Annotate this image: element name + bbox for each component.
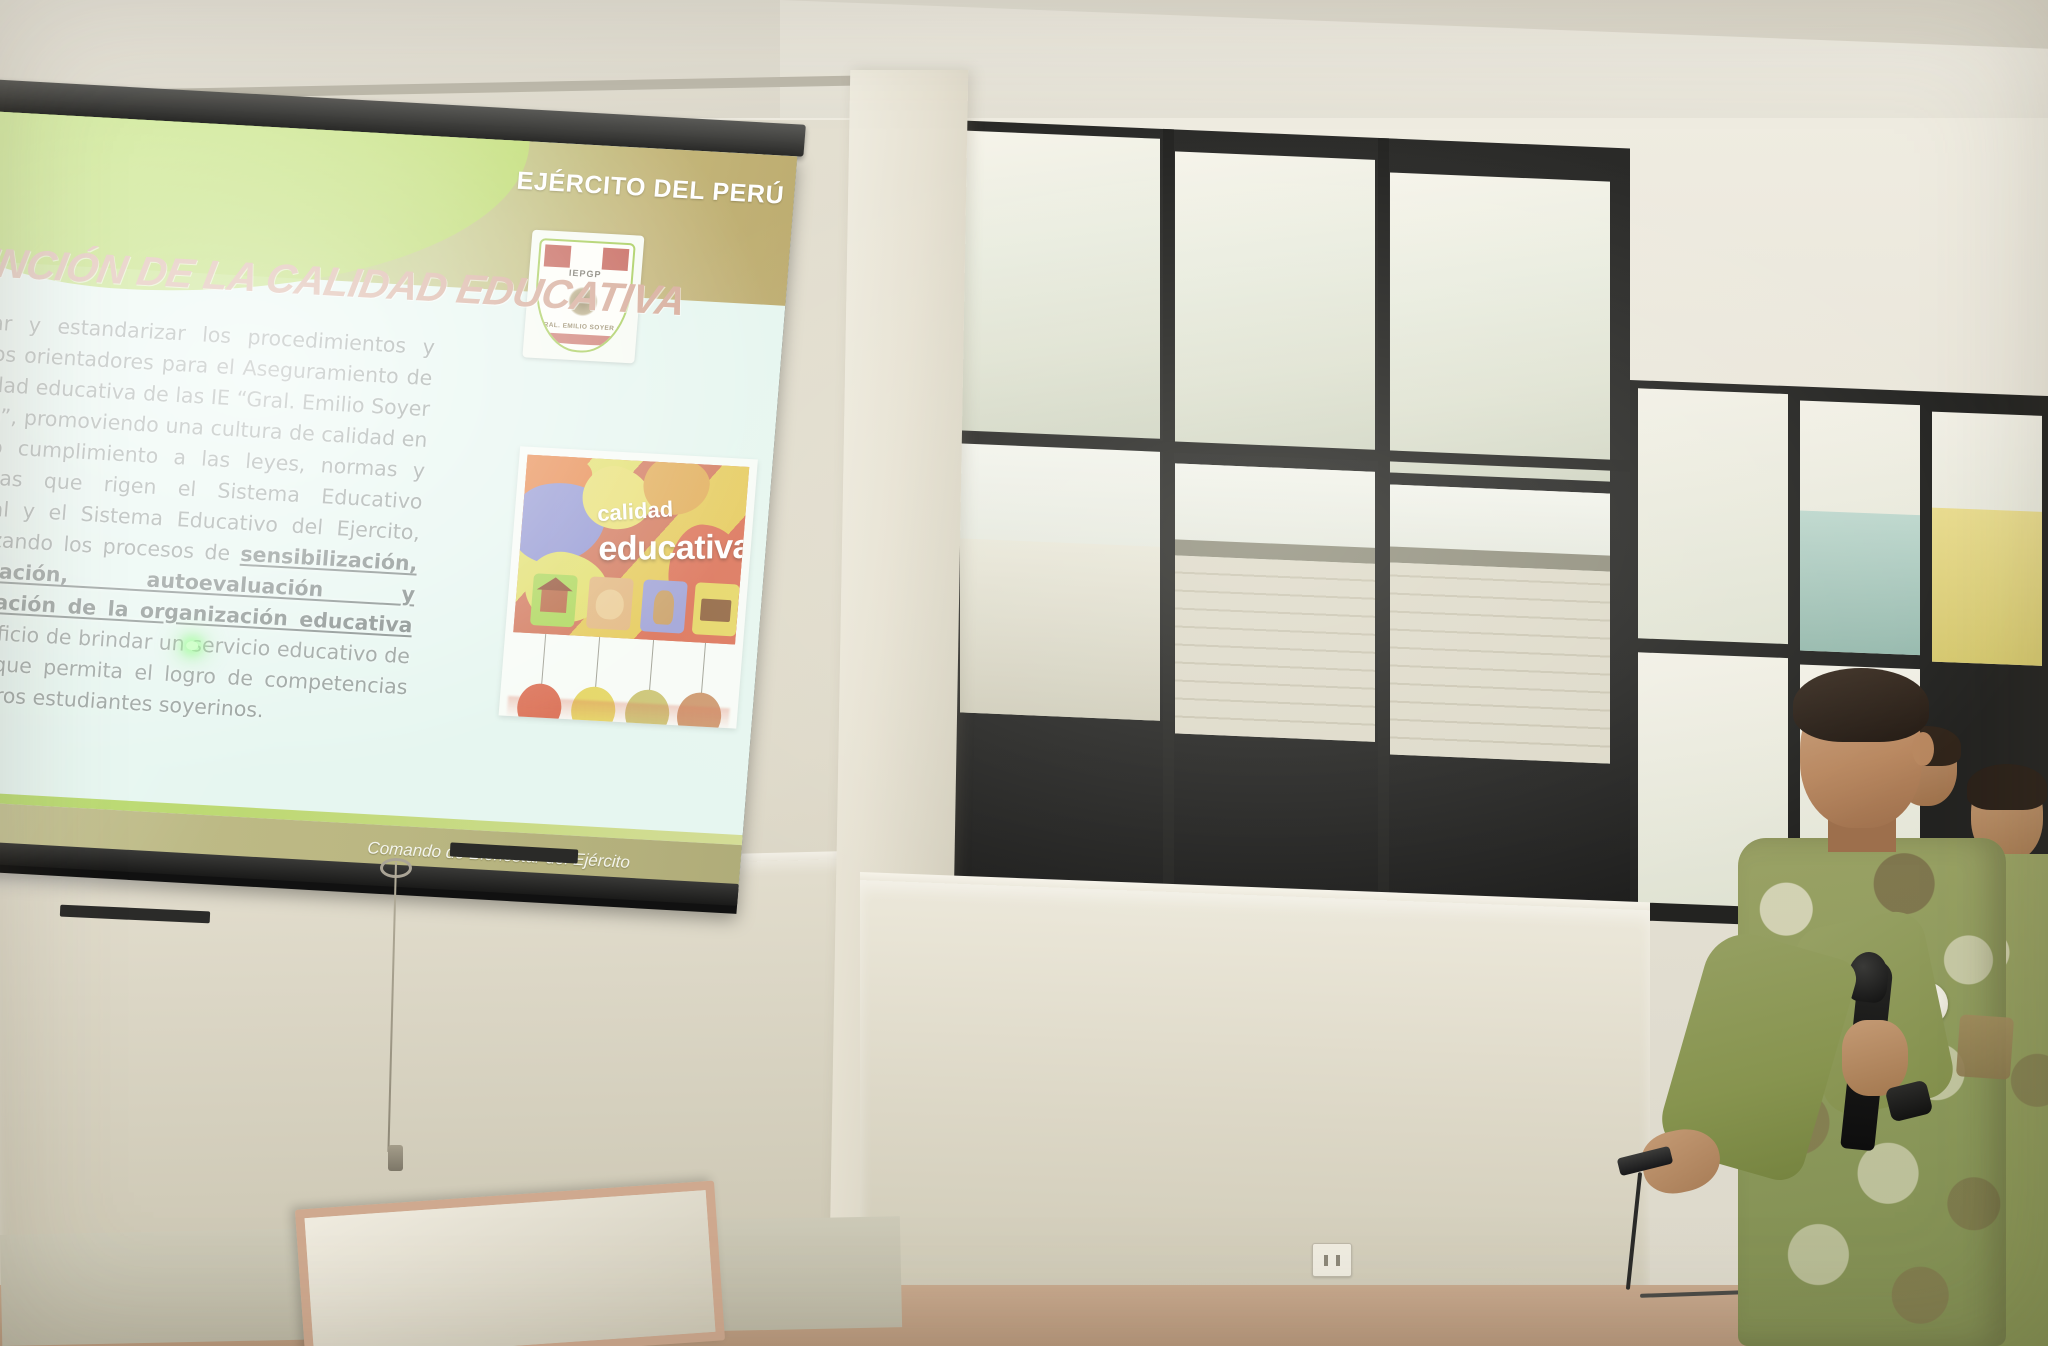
presentation-slide: EJÉRCITO DEL PERÚ IEPGP GRAL. EMILIO SOY… [0,110,797,889]
crest-ribbon [542,332,619,346]
poster-word-calidad: calidad [597,496,674,527]
window-pane [960,130,1160,438]
book-icon [692,582,740,636]
window-mullion [1163,129,1174,919]
power-outlet-icon [1312,1243,1352,1277]
crest-quarter [602,248,630,271]
presentation-room-photo: EJÉRCITO DEL PERÚ IEPGP GRAL. EMILIO SOY… [0,0,2048,1346]
slide-body-text: Normar y estandarizar los procedimientos… [0,304,436,734]
screen-cord-handle[interactable] [388,1145,403,1171]
window-pane [1175,151,1375,459]
slide-organization-label: EJÉRCITO DEL PERÚ [516,167,786,211]
window-frame-center [950,120,1630,939]
slide-poster-graphic: calidad educativa [499,446,758,728]
poster-leader-line [649,640,654,692]
lamp-icon [640,579,688,633]
outside-brick-wall [1175,555,1375,741]
poster-leader-line [541,634,546,686]
window-pane [1390,484,1610,763]
leaning-board-surface [305,1190,716,1346]
window-mullion [1378,138,1389,928]
poster-leader-line [595,637,600,689]
poster-leader-line [701,643,706,695]
crest-quarter [544,244,572,267]
projection-screen: EJÉRCITO DEL PERÚ IEPGP GRAL. EMILIO SOY… [0,40,849,936]
poster-word-educativa: educativa [598,528,749,569]
window-pane [1390,172,1610,481]
shoulder-patch-icon [1956,1014,2014,1080]
poster-collage: calidad educativa [513,455,749,645]
presenter-hair [1793,668,1929,742]
parapet-wall [860,880,1650,1346]
presenter [1690,660,2048,1346]
outside-brick-wall [1390,562,1610,763]
outside-teal-building [1800,511,1920,656]
presenter-hand-holding-microphone [1842,1020,1908,1096]
window-wall-center [950,120,1630,939]
window-pane [960,442,1160,720]
house-icon [530,573,578,627]
window-pane [1638,388,1788,644]
window-pane [1175,463,1375,741]
outside-yellow-building [1932,508,2042,666]
projection-screen-surface: EJÉRCITO DEL PERÚ IEPGP GRAL. EMILIO SOY… [0,110,797,914]
crest-motto: GRAL. EMILIO SOYER C. [535,321,627,333]
face-icon [586,576,634,630]
presenter-ear [1912,732,1934,766]
window-pane [1932,412,2042,666]
leaning-board[interactable] [295,1181,725,1346]
window-pane [1800,401,1920,656]
outside-building [960,538,1160,720]
